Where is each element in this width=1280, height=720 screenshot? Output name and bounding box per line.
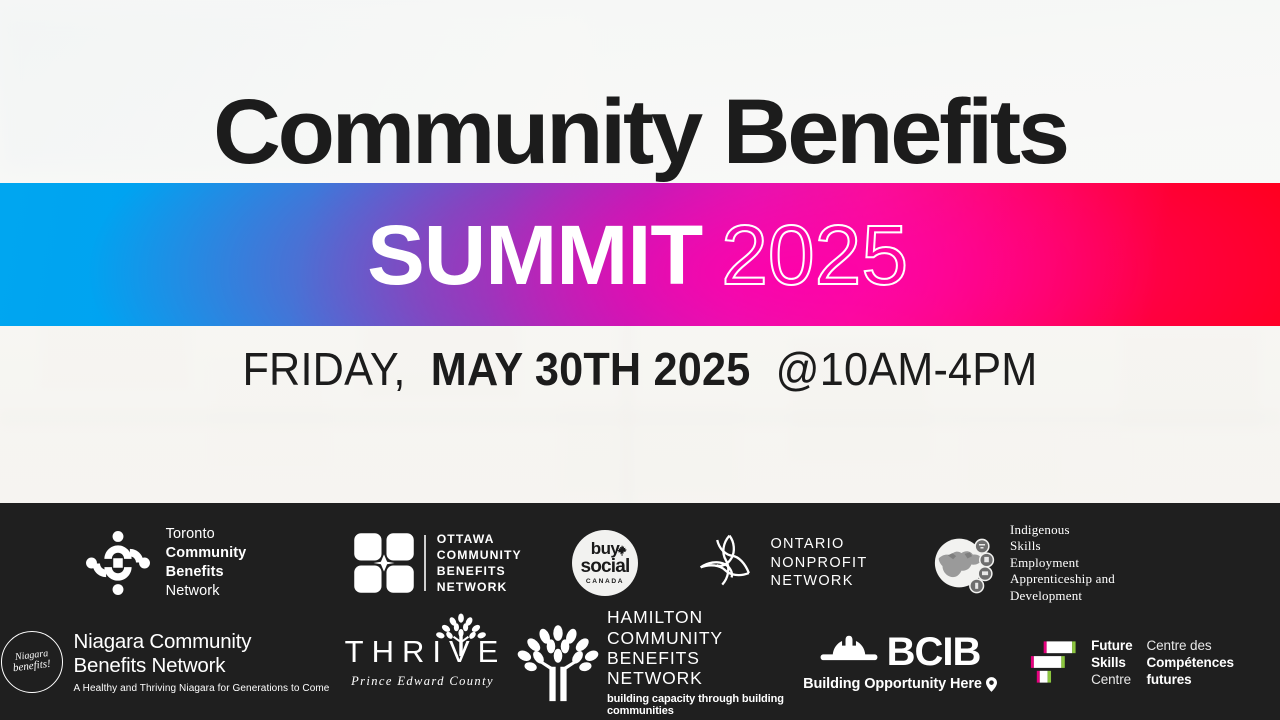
isead-logo-text: Indigenous Skills Employment Apprentices… (1010, 522, 1115, 604)
ottawa-line-3: BENEFITS (437, 563, 522, 579)
hamilton-line-2: BENEFITS NETWORK (607, 648, 795, 689)
event-dateline: FRIDAY, MAY 30TH 2025 @10AM-4PM (38, 344, 1241, 395)
summit-word: SUMMIT (367, 213, 702, 297)
hamilton-line-1: HAMILTON COMMUNITY (607, 607, 795, 648)
ottawa-line-4: NETWORK (437, 579, 522, 595)
sponsor-row-1: Toronto Community Benefits Network OTT (0, 517, 1280, 609)
ottawa-line-2: COMMUNITY (437, 547, 522, 563)
toronto-line-3: Benefits (166, 563, 247, 582)
thrive-subtitle: Prince Edward County (351, 674, 494, 689)
sponsor-row-2: Niagara benefits! Niagara Community Bene… (0, 613, 1280, 711)
niagara-ring-icon: Niagara benefits! (1, 631, 63, 693)
onn-line-3: NETWORK (770, 572, 867, 591)
logo-ottawa-community-benefits-network[interactable]: OTTAWA COMMUNITY BENEFITS NETWORK (330, 531, 545, 596)
buy-social-line-3: CANADA (586, 578, 624, 585)
fsc-en-line-2: Skills (1091, 654, 1132, 671)
logo-niagara-community-benefits-network[interactable]: Niagara benefits! Niagara Community Bene… (0, 630, 330, 694)
logo-ontario-nonprofit-network[interactable]: ONTARIO NONPROFIT NETWORK (665, 527, 895, 599)
isead-line-3: Employment (1010, 555, 1115, 571)
bcib-tagline-row: Building Opportunity Here (803, 676, 997, 692)
fsc-en-line-1: Future (1091, 637, 1132, 654)
niagara-mark-line-2: benefits! (12, 659, 51, 675)
thrive-wordmark: THRIVE (339, 636, 507, 667)
date-main: MAY 30TH 2025 (431, 343, 751, 395)
date-prefix: FRIDAY, (242, 343, 405, 395)
onn-logo-text: ONTARIO NONPROFIT NETWORK (770, 535, 867, 591)
logo-future-skills-centre[interactable]: Future Skills Centre Centre des Compéten… (1005, 637, 1255, 688)
hard-hat-icon (820, 632, 878, 672)
toronto-line-1: Toronto (166, 525, 247, 544)
fsc-bars-icon (1026, 637, 1080, 687)
fsc-fr-line-3: futures (1146, 671, 1233, 688)
onn-line-2: NONPROFIT (770, 554, 867, 573)
isead-line-1: Indigenous (1010, 522, 1115, 538)
toronto-line-4: Network (166, 582, 247, 601)
niagara-line-2: Benefits Network (74, 654, 330, 678)
summit-year: 2025 (721, 213, 908, 297)
fsc-english-column: Future Skills Centre (1091, 637, 1132, 688)
ottawa-logo-text: OTTAWA COMMUNITY BENEFITS NETWORK (437, 531, 522, 596)
buy-social-circle: buy social CANADA (572, 530, 638, 596)
logo-toronto-community-benefits-network[interactable]: Toronto Community Benefits Network (0, 525, 330, 600)
toronto-logo-text: Toronto Community Benefits Network (166, 525, 247, 600)
bcib-top: BCIB (820, 632, 981, 672)
hamilton-logo-text: HAMILTON COMMUNITY BENEFITS NETWORK buil… (607, 607, 795, 717)
sponsor-logo-bar: Toronto Community Benefits Network OTT (0, 503, 1280, 720)
buy-social-line-2: social (580, 558, 629, 576)
event-banner: Community Benefits SUMMIT 2025 FRIDAY, M… (0, 0, 1280, 720)
maple-leaf-icon (615, 544, 629, 557)
niagara-tagline: A Healthy and Thriving Niagara for Gener… (74, 683, 330, 694)
isead-line-2: Skills (1010, 538, 1115, 554)
bcib-tagline: Building Opportunity Here (803, 676, 982, 692)
isead-line-4: Apprenticeship and (1010, 571, 1115, 587)
band-content: SUMMIT 2025 (0, 183, 1280, 326)
isead-line-5: Development (1010, 588, 1115, 604)
logo-thrive-prince-edward-county[interactable]: THRIVE Prince Edward County (330, 636, 515, 689)
tree-icon (432, 610, 490, 656)
people-circle-icon (84, 529, 152, 597)
niagara-logo-text: Niagara Community Benefits Network A Hea… (74, 630, 330, 694)
niagara-line-1: Niagara Community (74, 630, 330, 654)
logo-hamilton-community-benefits-network[interactable]: HAMILTON COMMUNITY BENEFITS NETWORK buil… (515, 607, 795, 717)
logo-bcib[interactable]: BCIB Building Opportunity Here (795, 632, 1005, 692)
fsc-fr-line-1: Centre des (1146, 637, 1233, 654)
logo-buy-social-canada[interactable]: buy social CANADA (545, 530, 665, 596)
leafy-tree-icon (515, 622, 601, 702)
location-pin-icon (986, 677, 997, 692)
ottawa-divider (424, 535, 426, 591)
fsc-text-columns: Future Skills Centre Centre des Compéten… (1091, 637, 1234, 688)
event-headline: Community Benefits (0, 86, 1280, 178)
trillium-pinwheel-icon (692, 527, 764, 599)
bcib-wordmark: BCIB (887, 632, 981, 672)
gradient-band: SUMMIT 2025 (0, 183, 1280, 326)
logo-indigenous-skills-employment[interactable]: Indigenous Skills Employment Apprentices… (895, 522, 1145, 604)
hamilton-tagline: building capacity through building commu… (607, 693, 795, 717)
canada-map-circle-icon (925, 525, 1001, 601)
onn-line-1: ONTARIO (770, 535, 867, 554)
four-squares-icon (353, 532, 415, 594)
fsc-french-column: Centre des Compétences futures (1146, 637, 1233, 688)
fsc-en-line-3: Centre (1091, 671, 1132, 688)
toronto-line-2: Community (166, 544, 247, 563)
fsc-fr-line-2: Compétences (1146, 654, 1233, 671)
ottawa-line-1: OTTAWA (437, 531, 522, 547)
date-time: @10AM-4PM (776, 343, 1038, 395)
